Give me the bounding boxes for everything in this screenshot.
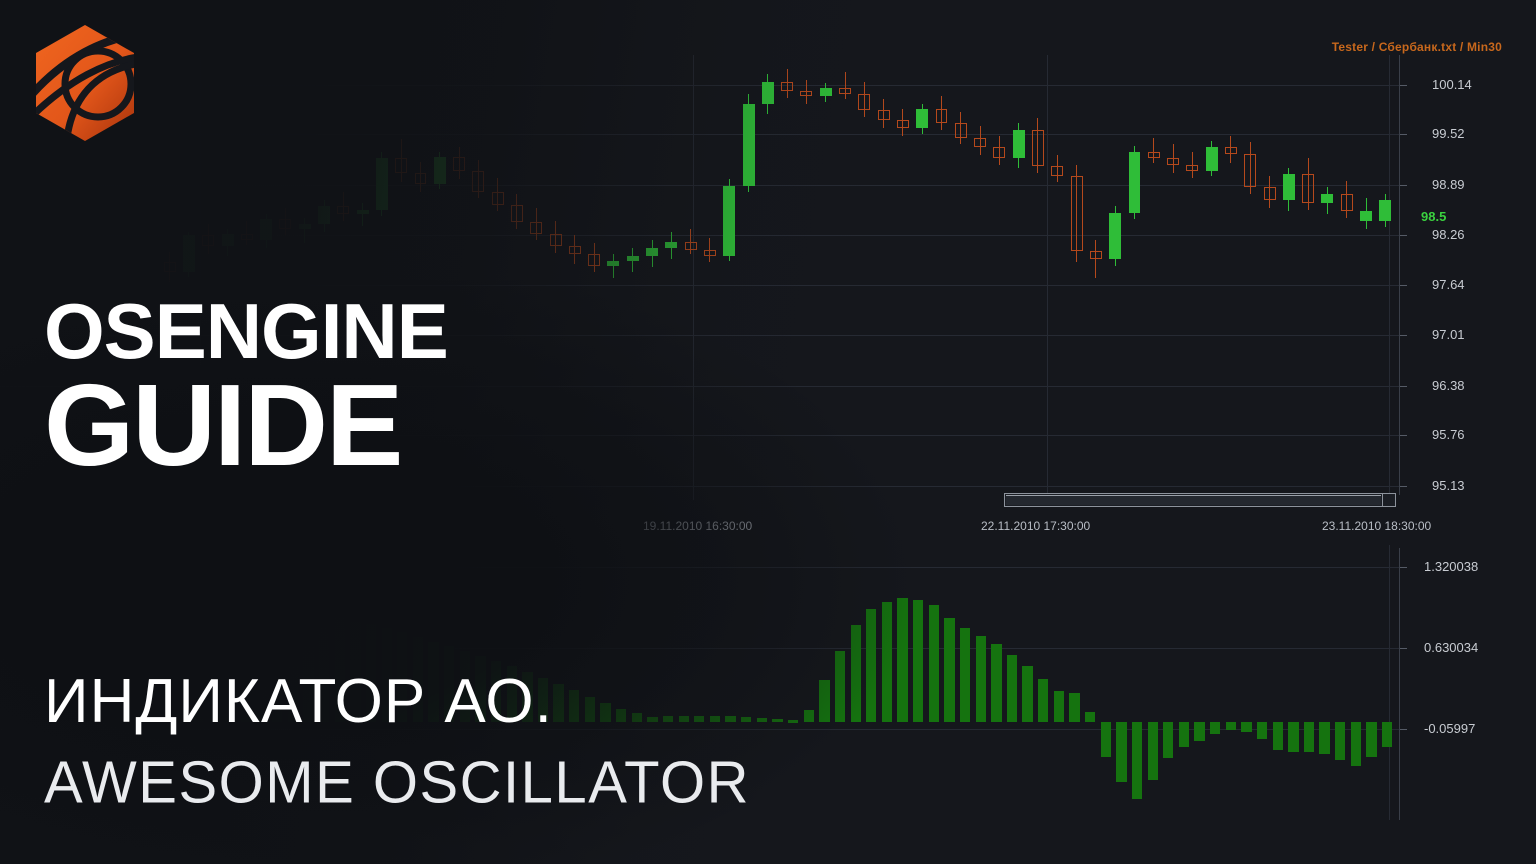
candle-wick [304, 218, 305, 244]
ao-histogram-bar [1210, 722, 1220, 735]
candle-body [1051, 166, 1063, 176]
candle-body [1129, 152, 1141, 213]
ao-histogram-bar [913, 600, 923, 722]
candle-body [492, 192, 504, 205]
ao-histogram-bar [804, 710, 814, 722]
ao-histogram-bar [1335, 722, 1345, 761]
current-price-label: 98.5 [1421, 209, 1446, 224]
candle-body [588, 254, 600, 265]
ao-histogram-bar [1038, 679, 1048, 721]
candlestick [916, 0, 928, 510]
ao-histogram-bar [1069, 693, 1079, 721]
candlestick [820, 0, 832, 510]
candlestick [704, 0, 716, 510]
candle-wick [845, 72, 846, 99]
candlestick [1321, 0, 1333, 510]
ao-histogram-bar [882, 602, 892, 722]
candle-body [839, 88, 851, 94]
candlestick [1341, 0, 1353, 510]
candle-body [357, 210, 369, 215]
candle-body [858, 94, 870, 110]
candlestick [897, 0, 909, 510]
ao-histogram-bar [788, 720, 798, 723]
candle-body [1225, 147, 1237, 153]
candlestick [685, 0, 697, 510]
ao-histogram-bar [1132, 722, 1142, 799]
ao-axis-divider [1399, 548, 1400, 820]
price-axis-tick-label: 98.26 [1432, 227, 1465, 242]
price-axis-tick [1400, 134, 1407, 135]
candlestick [858, 0, 870, 510]
candle-body [299, 224, 311, 229]
candlestick [1283, 0, 1295, 510]
logo-svg [30, 22, 140, 144]
subtitle-line-en: AWESOME OSCILLATOR [44, 748, 750, 816]
ao-histogram-bar [944, 618, 954, 721]
candle-body [897, 120, 909, 128]
candlestick [1302, 0, 1314, 510]
ao-axis-tick-label: -0.05997 [1424, 721, 1475, 736]
candlestick [1051, 0, 1063, 510]
price-axis-tick [1400, 335, 1407, 336]
candle-body [800, 91, 812, 96]
candle-body [453, 157, 465, 171]
price-axis-tick [1400, 85, 1407, 86]
candle-body [395, 158, 407, 172]
candle-body [665, 242, 677, 248]
ao-histogram-bar [976, 636, 986, 722]
price-axis-tick [1400, 185, 1407, 186]
candlestick [1109, 0, 1121, 510]
candle-body [955, 123, 967, 137]
ao-histogram-bar [1101, 722, 1111, 757]
ao-histogram-bar [991, 644, 1001, 721]
candlestick [1206, 0, 1218, 510]
candle-body [1302, 174, 1314, 203]
ao-histogram-bar [835, 651, 845, 721]
headline-line-1: OSENGINE [44, 296, 448, 368]
candle-body [607, 261, 619, 266]
candle-body [1013, 130, 1025, 159]
candlestick [550, 0, 562, 510]
candlestick [1071, 0, 1083, 510]
candlestick [1379, 0, 1391, 510]
candlestick [453, 0, 465, 510]
candle-body [723, 186, 735, 256]
ao-histogram-bar [1257, 722, 1267, 740]
price-axis-divider [1399, 55, 1400, 495]
candle-body [1206, 147, 1218, 171]
candlestick [1032, 0, 1044, 510]
page-title: OSENGINE GUIDE [44, 296, 448, 478]
candlestick [839, 0, 851, 510]
ao-gridline-h [0, 567, 1400, 568]
candlestick [1244, 0, 1256, 510]
chart-title-label: Tester / Сбербанк.txt / Min30 [1332, 40, 1502, 54]
candlestick [936, 0, 948, 510]
candle-body [1379, 200, 1391, 221]
ao-histogram-bar [1226, 722, 1236, 730]
ao-histogram-bar [1273, 722, 1283, 750]
ao-histogram-bar [1319, 722, 1329, 755]
ao-histogram-bar [1304, 722, 1314, 752]
candle-body [530, 222, 542, 233]
ao-histogram-bar [1288, 722, 1298, 752]
candlestick [1225, 0, 1237, 510]
candlestick [1129, 0, 1141, 510]
ao-histogram-bar [897, 598, 907, 721]
candle-body [222, 234, 234, 247]
candle-body [1186, 165, 1198, 171]
candle-body [1321, 194, 1333, 204]
time-axis-tick-label: 22.11.2010 17:30:00 [981, 519, 1090, 533]
candle-body [1090, 251, 1102, 259]
ao-histogram-bar [1007, 655, 1017, 722]
candle-wick [1153, 138, 1154, 164]
ao-histogram-bar [1366, 722, 1376, 757]
candle-body [685, 242, 697, 250]
scrollbar-thumb[interactable] [1006, 495, 1381, 505]
ao-histogram-bar [772, 719, 782, 722]
candlestick [743, 0, 755, 510]
ao-histogram-bar [1022, 666, 1032, 721]
candle-body [550, 234, 562, 247]
ao-axis-tick [1400, 729, 1407, 730]
ao-histogram-bar [1351, 722, 1361, 767]
ao-histogram-bar [960, 628, 970, 722]
price-axis-tick-label: 98.89 [1432, 177, 1465, 192]
candle-body [318, 206, 330, 224]
candlestick [1167, 0, 1179, 510]
ao-histogram-bar [1382, 722, 1392, 748]
candle-body [1283, 174, 1295, 200]
price-axis-tick-label: 99.52 [1432, 126, 1465, 141]
candlestick [665, 0, 677, 510]
ao-histogram-bar [819, 680, 829, 721]
candle-body [1032, 130, 1044, 167]
candle-body [627, 256, 639, 261]
candle-body [878, 110, 890, 120]
candlestick [800, 0, 812, 510]
candlestick [1090, 0, 1102, 510]
candle-body [646, 248, 658, 256]
headline-line-2: GUIDE [44, 372, 448, 479]
page-subtitle: ИНДИКАТОР АО. AWESOME OSCILLATOR [44, 666, 750, 816]
candlestick [781, 0, 793, 510]
candle-body [936, 109, 948, 123]
price-axis-tick-label: 97.64 [1432, 277, 1465, 292]
candle-body [279, 219, 291, 229]
candle-body [1341, 194, 1353, 212]
candle-body [569, 246, 581, 254]
subtitle-line-ru: ИНДИКАТОР АО. [44, 666, 750, 737]
candlestick [511, 0, 523, 510]
candle-body [1244, 154, 1256, 188]
scrollbar-right-grip[interactable] [1382, 494, 1395, 506]
candle-wick [613, 254, 614, 278]
ao-histogram-bar [1054, 691, 1064, 721]
price-axis-tick-label: 97.01 [1432, 327, 1465, 342]
candle-body [434, 157, 446, 184]
price-axis-tick [1400, 235, 1407, 236]
candle-body [704, 250, 716, 256]
ao-histogram-bar [1163, 722, 1173, 758]
candle-body [1109, 213, 1121, 259]
price-axis-tick [1400, 486, 1407, 487]
time-axis-tick-label: 23.11.2010 18:30:00 [1322, 519, 1431, 533]
thumbnail-canvas: 100.1499.5298.8998.2697.6497.0196.3895.7… [0, 0, 1536, 864]
candle-body [472, 171, 484, 192]
osengine-hexagon-logo [30, 22, 140, 144]
candlestick [1186, 0, 1198, 510]
candle-body [202, 235, 214, 246]
ao-histogram-bar [1148, 722, 1158, 781]
price-axis-tick [1400, 386, 1407, 387]
ao-histogram-bar [1194, 722, 1204, 742]
candlestick [588, 0, 600, 510]
candlestick [1148, 0, 1160, 510]
ao-histogram-bar [866, 609, 876, 722]
ao-axis-tick-label: 0.630034 [1424, 640, 1478, 655]
candle-body [415, 173, 427, 184]
price-axis-tick-label: 100.14 [1432, 77, 1472, 92]
candlestick [492, 0, 504, 510]
candle-body [1167, 158, 1179, 164]
time-axis-tick-label: 19.11.2010 16:30:00 [643, 519, 752, 533]
price-axis-tick [1400, 435, 1407, 436]
candlestick [646, 0, 658, 510]
ao-axis-tick [1400, 567, 1407, 568]
ao-axis-tick [1400, 648, 1407, 649]
price-gridline-v [1047, 55, 1048, 500]
candlestick [530, 0, 542, 510]
candle-body [820, 88, 832, 96]
candle-body [183, 235, 195, 272]
price-axis-tick [1400, 285, 1407, 286]
ao-histogram-bar [851, 625, 861, 721]
candle-body [511, 205, 523, 223]
candle-body [1264, 187, 1276, 200]
price-axis-tick-label: 96.38 [1432, 378, 1465, 393]
candlestick [472, 0, 484, 510]
candle-body [916, 109, 928, 128]
ao-histogram-bar [757, 718, 767, 722]
chart-horizontal-scrollbar[interactable] [1004, 493, 1396, 507]
candlestick [607, 0, 619, 510]
candle-body [1148, 152, 1160, 158]
ao-histogram-bar [1241, 722, 1251, 733]
candle-body [241, 234, 253, 240]
candlestick [878, 0, 890, 510]
ao-histogram-bar [1179, 722, 1189, 748]
ao-gridline-v [1389, 545, 1390, 820]
candle-body [974, 138, 986, 148]
candle-body [993, 147, 1005, 158]
candle-body [260, 219, 272, 240]
candle-body [1360, 211, 1372, 221]
ao-histogram-bar [1085, 712, 1095, 721]
ao-histogram-bar [929, 605, 939, 721]
price-axis-tick-label: 95.13 [1432, 478, 1465, 493]
candlestick [569, 0, 581, 510]
candle-wick [1095, 240, 1096, 278]
candle-body [781, 82, 793, 92]
candlestick [1264, 0, 1276, 510]
candle-body [1071, 176, 1083, 251]
candle-body [743, 104, 755, 186]
ao-axis-tick-label: 1.320038 [1424, 559, 1478, 574]
candlestick [955, 0, 967, 510]
candle-body [762, 82, 774, 104]
candle-body [164, 262, 176, 272]
candlestick [1360, 0, 1372, 510]
candlestick [762, 0, 774, 510]
price-axis-tick-label: 95.76 [1432, 427, 1465, 442]
candlestick [627, 0, 639, 510]
candlestick [1013, 0, 1025, 510]
candlestick [993, 0, 1005, 510]
ao-histogram-bar [1116, 722, 1126, 783]
candle-body [337, 206, 349, 214]
candle-body [376, 158, 388, 209]
candlestick [723, 0, 735, 510]
candlestick [974, 0, 986, 510]
